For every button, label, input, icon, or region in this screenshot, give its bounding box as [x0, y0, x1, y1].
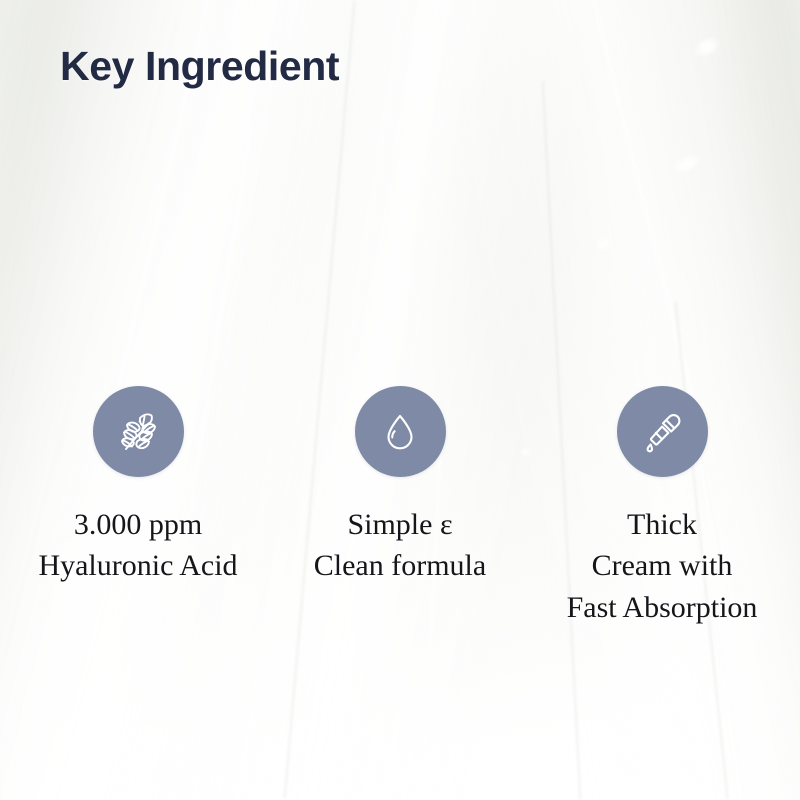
feature-caption: Simple ɛ Clean formula [314, 504, 486, 587]
feature-caption: 3.000 ppm Hyaluronic Acid [38, 504, 237, 587]
product-feature-banner: Key Ingredient [0, 0, 800, 800]
feature-list: 3.000 ppm Hyaluronic Acid Simple ɛ Clean… [0, 386, 800, 628]
dropper-pipette-icon [638, 408, 686, 456]
feature-item-fast-absorption: Thick Cream with Fast Absorption [531, 386, 793, 628]
feature-icon-badge [93, 386, 184, 477]
page-title: Key Ingredient [60, 44, 339, 89]
gloss-speck-6 [452, 770, 464, 778]
feature-item-clean-formula: Simple ɛ Clean formula [269, 386, 531, 587]
feature-icon-badge [617, 386, 708, 477]
feature-caption: Thick Cream with Fast Absorption [567, 504, 758, 628]
feature-item-hyaluronic-acid: 3.000 ppm Hyaluronic Acid [7, 386, 269, 587]
water-droplet-icon [377, 409, 423, 455]
feature-icon-badge [355, 386, 446, 477]
leaf-branch-icon [113, 407, 163, 457]
